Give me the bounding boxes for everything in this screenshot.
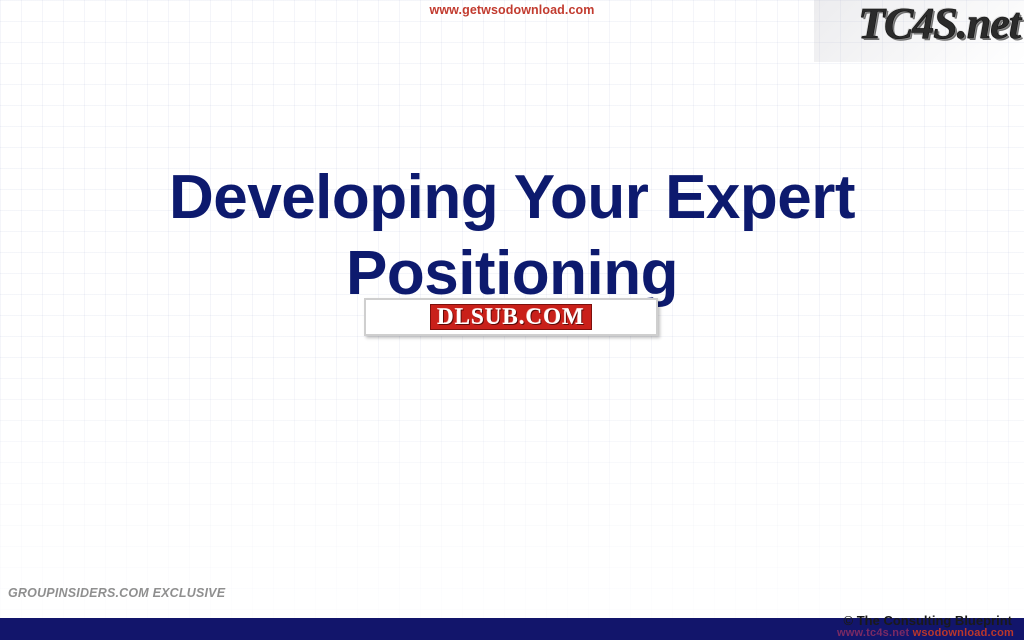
footer-copyright: © The Consulting Blueprint	[844, 613, 1012, 628]
slide-title-line-1: Developing Your Expert	[60, 160, 964, 236]
dlsub-stamp-text: DLSUB.COM	[437, 305, 585, 329]
presentation-slide: www.getwsodownload.com TC4S.net Developi…	[0, 0, 1024, 640]
dlsub-stamp-inner: DLSUB.COM	[430, 304, 592, 330]
exclusive-label: GROUPINSIDERS.COM EXCLUSIVE	[8, 586, 225, 600]
tc4s-brand-logo: TC4S.net	[858, 0, 1020, 49]
footer-watermark-right: wsodownload.com	[913, 627, 1014, 639]
footer-watermark-left: www.tc4s.net	[837, 627, 909, 639]
dlsub-watermark-stamp: DLSUB.COM	[364, 298, 658, 336]
slide-title: Developing Your Expert Positioning	[60, 160, 964, 312]
footer-watermark: www.tc4s.net wsodownload.com	[837, 627, 1014, 639]
